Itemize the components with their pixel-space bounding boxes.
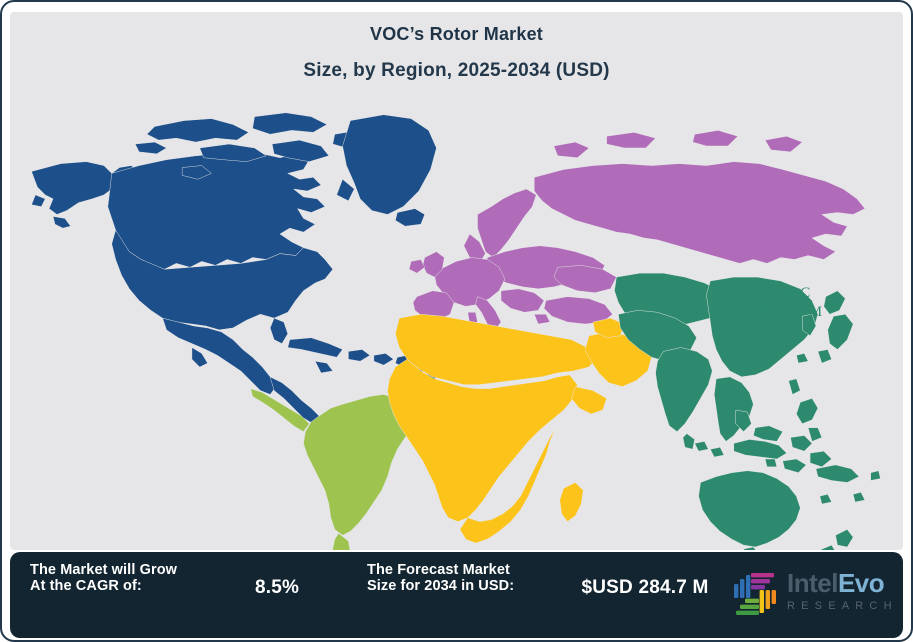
- apac-annotation: APAC $ 61.70 M: [736, 284, 846, 322]
- logo-word-intel: Intel: [787, 568, 838, 598]
- forecast-value: $USD 284.7 M: [580, 574, 710, 603]
- intelevo-pinwheel-icon: [725, 564, 785, 624]
- cagr-value-wrap: 8.5%: [255, 574, 375, 603]
- infographic-card: VOC’s Rotor Market Size, by Region, 2025…: [0, 0, 913, 642]
- brand-logo[interactable]: IntelEvo RESEARCH: [715, 558, 903, 632]
- logo-word-research: RESEARCH: [787, 600, 898, 612]
- page-title: VOC’s Rotor Market: [10, 24, 903, 45]
- forecast-stat: The Forecast Market Size for 2034 in USD…: [367, 562, 514, 594]
- forecast-value-wrap: $USD 284.7 M: [580, 574, 710, 603]
- cagr-stat: The Market will Grow At the CAGR of:: [30, 562, 177, 594]
- region-middle-east-africa[interactable]: [388, 314, 652, 543]
- apac-region-value: $ 61.70 M: [736, 303, 846, 322]
- logo-word-evo: Evo: [838, 568, 884, 598]
- cagr-label: The Market will Grow At the CAGR of:: [30, 562, 177, 594]
- map-panel: VOC’s Rotor Market Size, by Region, 2025…: [10, 12, 903, 550]
- world-map: [10, 100, 903, 550]
- apac-region-name: APAC: [736, 284, 846, 303]
- world-map-svg: [10, 100, 903, 550]
- cagr-value: 8.5%: [255, 574, 375, 603]
- pinwheel-icon-svg: [725, 564, 785, 624]
- forecast-label: The Forecast Market Size for 2034 in USD…: [367, 562, 514, 594]
- page-subtitle: Size, by Region, 2025-2034 (USD): [10, 60, 903, 82]
- footer-stats-bar: The Market will Grow At the CAGR of: 8.5…: [10, 552, 903, 638]
- logo-wordmark: IntelEvo RESEARCH: [787, 568, 898, 612]
- region-north-america[interactable]: [32, 113, 437, 424]
